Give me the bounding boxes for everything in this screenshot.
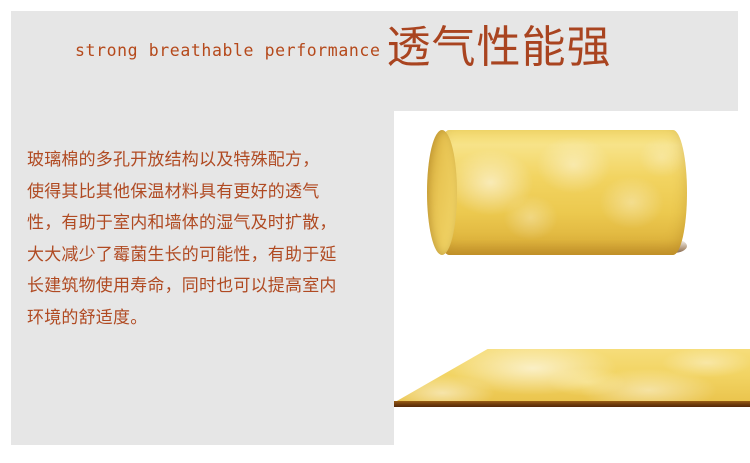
insulation-roll-texture <box>435 130 687 255</box>
description-line: 玻璃棉的多孔开放结构以及特殊配方， <box>27 145 377 177</box>
feature-banner: strong breathable performance 透气性能强 玻璃棉的… <box>0 0 750 463</box>
insulation-mat-texture <box>394 349 750 404</box>
product-photo <box>394 111 750 463</box>
description-paragraph: 玻璃棉的多孔开放结构以及特殊配方， 使得其比其他保温材料具有更好的透气 性，有助… <box>27 145 377 334</box>
description-line: 环境的舒适度。 <box>27 303 377 335</box>
headline-chinese: 透气性能强 <box>386 26 611 70</box>
banner-header: strong breathable performance 透气性能强 <box>11 26 738 88</box>
description-line: 性，有助于室内和墙体的湿气及时扩散， <box>27 208 377 240</box>
description-line: 大大减少了霉菌生长的可能性，有助于延 <box>27 240 377 272</box>
headline-english: strong breathable performance <box>75 41 380 60</box>
photo-right-fade <box>724 111 750 463</box>
description-line: 使得其比其他保温材料具有更好的透气 <box>27 177 377 209</box>
description-line: 长建筑物使用寿命，同时也可以提高室内 <box>27 271 377 303</box>
product-photo-stage <box>394 111 750 463</box>
insulation-roll-end-cap <box>427 130 457 255</box>
insulation-mat-front-edge <box>394 401 750 407</box>
insulation-roll <box>435 130 687 255</box>
